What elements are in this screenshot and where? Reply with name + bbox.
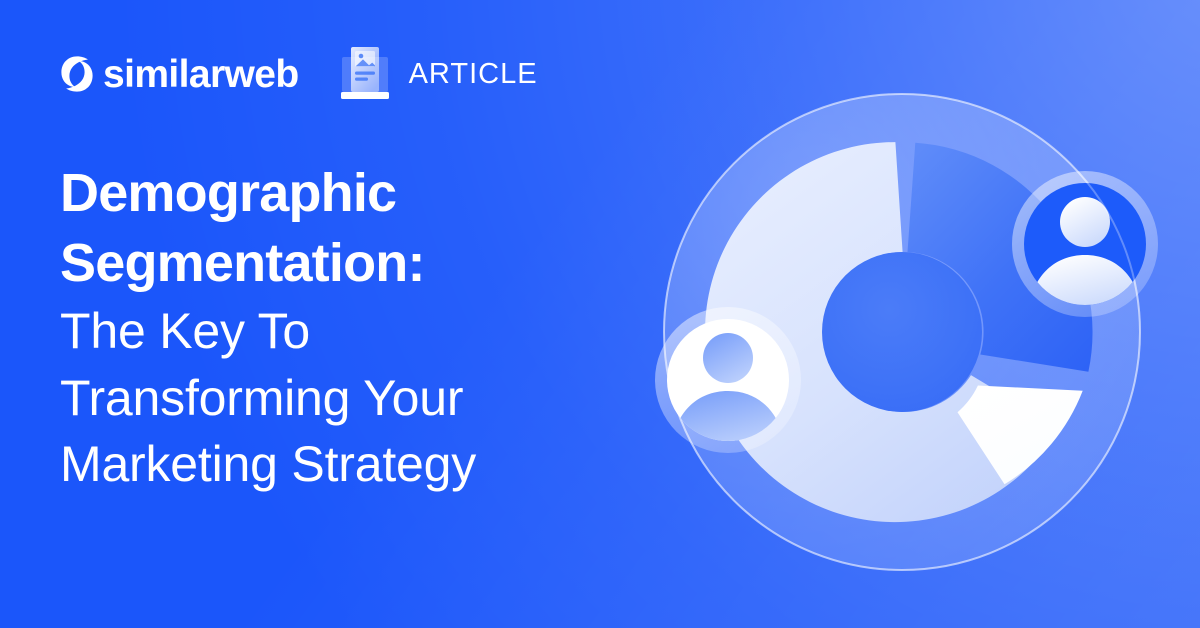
donut-center-hub bbox=[822, 252, 982, 412]
donut-chart-svg bbox=[630, 50, 1190, 610]
headline-line-3: The Key To bbox=[60, 298, 660, 365]
content-type-badge: ARTICLE bbox=[338, 44, 538, 104]
article-document-icon bbox=[338, 44, 392, 104]
headline-line-2: Segmentation: bbox=[60, 228, 660, 298]
headline-line-1: Demographic bbox=[60, 158, 660, 228]
article-promo-banner: similarweb bbox=[0, 0, 1200, 628]
content-type-label: ARTICLE bbox=[409, 60, 538, 89]
demographic-donut-chart-illustration bbox=[630, 50, 1190, 610]
similarweb-wordmark: similarweb bbox=[103, 55, 299, 94]
headline-line-4: Transforming Your bbox=[60, 365, 660, 432]
banner-header: similarweb bbox=[60, 45, 538, 103]
headline-line-5: Marketing Strategy bbox=[60, 431, 660, 498]
similarweb-logo[interactable]: similarweb bbox=[60, 55, 299, 94]
headline-block: Demographic Segmentation: The Key To Tra… bbox=[60, 158, 660, 498]
user-avatar-top-right bbox=[1012, 171, 1158, 317]
user-avatar-bottom-left bbox=[655, 307, 801, 453]
similarweb-s-mark-icon bbox=[60, 56, 94, 92]
